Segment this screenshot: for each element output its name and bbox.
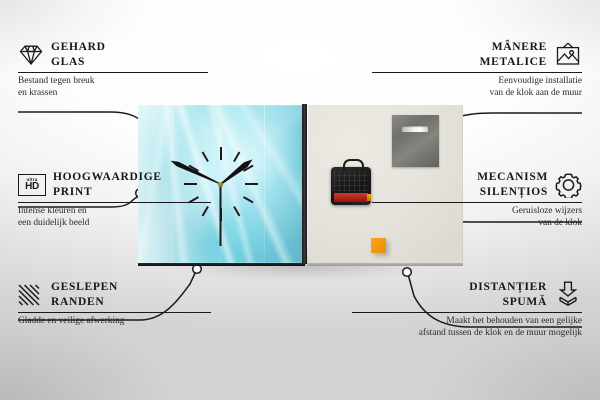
callout-divider xyxy=(372,202,582,203)
callout-header: MECANISM SILENȚIOS xyxy=(372,170,582,199)
callout-divider xyxy=(18,312,211,313)
ultra-hd-icon-main-text: HD xyxy=(25,182,39,192)
aa-battery xyxy=(334,193,368,202)
callout-divider xyxy=(18,72,208,73)
mechanism-texture xyxy=(334,171,368,191)
callout-divider xyxy=(372,72,582,73)
callout-ground-edges: GESLEPEN RANDEN Gladde en veilige afwerk… xyxy=(18,280,230,328)
callout-title: GEHARD GLAS xyxy=(51,40,106,69)
callout-tempered-glass: GEHARD GLAS Bestand tegen breuk en krass… xyxy=(18,40,228,100)
glass-reflection-seam xyxy=(264,105,265,263)
callout-title: MECANISM SILENȚIOS xyxy=(477,170,548,199)
callout-divider xyxy=(18,202,211,203)
picture-frame-icon xyxy=(554,42,582,68)
callout-metal-handles: MÂNERE METALICE Eenvoudige installatie v… xyxy=(372,40,582,100)
metal-hanger-plate xyxy=(392,115,439,167)
quartz-clock-mechanism xyxy=(331,167,371,205)
callout-header: GESLEPEN RANDEN xyxy=(18,280,230,309)
clock-side-edge xyxy=(302,104,307,264)
ultra-hd-icon: ultra HD xyxy=(18,174,46,196)
gear-icon xyxy=(555,172,582,198)
callout-description: Maakt het behouden van een gelijke afsta… xyxy=(352,316,582,339)
infographic-canvas: GEHARD GLAS Bestand tegen breuk en krass… xyxy=(0,0,600,400)
callout-silent-mechanism: MECANISM SILENȚIOS Geruisloze wijzers va… xyxy=(372,170,582,230)
callout-title: HOOGWAARDIGE PRINT xyxy=(53,170,162,199)
callout-header: GEHARD GLAS xyxy=(18,40,228,69)
callout-description: Eenvoudige installatie van de klok aan d… xyxy=(372,76,582,99)
callout-title: DISTANȚIER SPUMĂ xyxy=(469,280,547,309)
foam-spacer-pad xyxy=(371,238,386,253)
back-panel-bottom-edge xyxy=(308,263,463,266)
diamond-icon xyxy=(18,43,44,67)
callout-title: MÂNERE METALICE xyxy=(480,40,547,69)
callout-divider xyxy=(352,312,582,313)
callout-description: Gladde en veilige afwerking xyxy=(18,316,230,328)
callout-header: ultra HD HOOGWAARDIGE PRINT xyxy=(18,170,230,199)
callout-title: GESLEPEN RANDEN xyxy=(51,280,118,309)
callout-description: Geruisloze wijzers van de klok xyxy=(372,206,582,229)
diagonal-lines-icon xyxy=(18,284,44,306)
callout-header: DISTANȚIER SPUMĂ xyxy=(352,280,582,309)
callout-header: MÂNERE METALICE xyxy=(372,40,582,69)
callout-foam-spacer: DISTANȚIER SPUMĂ Maakt het behouden van … xyxy=(352,280,582,340)
spacer-down-arrow-icon xyxy=(554,281,582,308)
callout-high-quality-print: ultra HD HOOGWAARDIGE PRINT Intense kleu… xyxy=(18,170,230,230)
clock-bottom-edge xyxy=(138,263,305,266)
callout-description: Bestand tegen breuk en krassen xyxy=(18,76,228,99)
callout-description: Intense kleuren en een duidelijk beeld xyxy=(18,206,230,229)
